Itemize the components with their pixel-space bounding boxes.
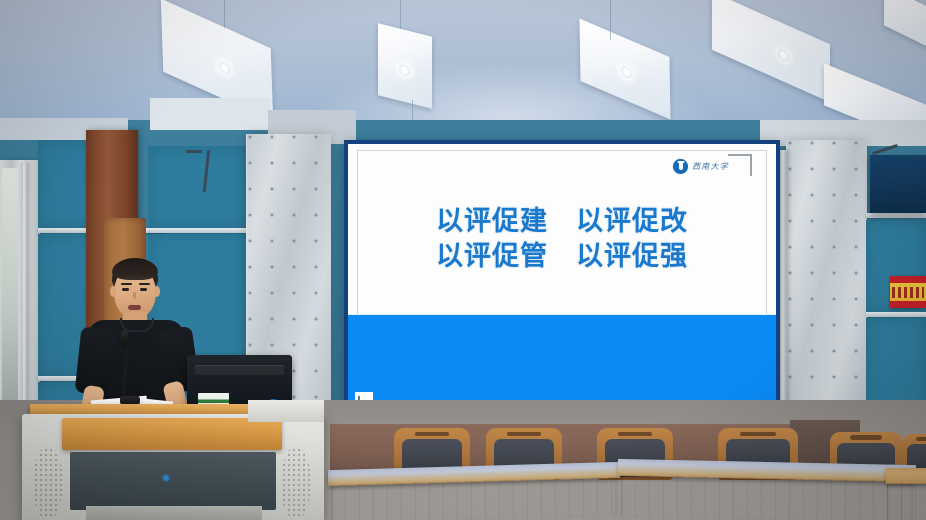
screen-content: 西南大学 以评促建 以评促改 以评促管 以评促强 <box>348 144 776 418</box>
podium-speaker-grille <box>282 448 310 518</box>
light-wire <box>224 0 225 28</box>
panel-divider <box>866 213 926 218</box>
presenter-eye <box>140 288 147 291</box>
presenter-nose <box>133 292 136 299</box>
presenter-ear <box>110 286 116 297</box>
wall-notice-sign <box>890 276 926 308</box>
conference-table[interactable] <box>328 462 620 520</box>
light-wire <box>400 0 401 32</box>
presenter-sleeve <box>75 326 116 395</box>
panel-divider <box>866 312 926 317</box>
presenter-ear <box>154 286 160 297</box>
acoustic-panel <box>150 148 246 228</box>
window-mullion <box>20 162 27 418</box>
window-glass <box>2 168 18 412</box>
conference-table[interactable] <box>886 468 926 520</box>
podium-indicator-light <box>163 475 169 481</box>
presenter-mouth <box>128 305 141 310</box>
podium-side-wing <box>248 400 324 422</box>
wall-bracket-icon <box>186 150 202 153</box>
podium-wood-band <box>62 418 282 450</box>
conference-table[interactable] <box>618 459 916 520</box>
microphone-head <box>121 330 128 346</box>
university-name-text: 西南大学 <box>692 161 729 172</box>
podium-base <box>86 506 262 520</box>
pendant-light-panel <box>378 23 432 108</box>
presenter-hair-top <box>112 258 158 280</box>
slide-title-line-1: 以评促建 以评促改 <box>348 204 776 239</box>
presenter-brow <box>139 283 150 285</box>
projection-screen[interactable]: 西南大学 以评促建 以评促改 以评促管 以评促强 <box>344 140 780 422</box>
podium-front-panel <box>70 452 276 510</box>
presenter-brow <box>121 283 132 285</box>
upper-wall-band <box>150 98 270 130</box>
light-wire <box>610 0 611 40</box>
university-logo: 西南大学 <box>673 159 729 174</box>
wall-speaker <box>870 155 926 213</box>
university-emblem-icon <box>673 159 688 174</box>
conference-room-photo: 西南大学 以评促建 以评促改 以评促管 以评促强 <box>0 0 926 520</box>
monitor-vent <box>195 365 283 374</box>
presenter-eye <box>122 288 129 291</box>
corner-bracket-icon <box>728 154 752 176</box>
podium-speaker-grille <box>34 448 62 518</box>
perforated-metal-panel <box>786 140 867 440</box>
panel-divider <box>150 228 248 233</box>
slide-title: 以评促建 以评促改 以评促管 以评促强 <box>348 204 776 274</box>
slide-title-line-2: 以评促管 以评促强 <box>348 239 776 274</box>
